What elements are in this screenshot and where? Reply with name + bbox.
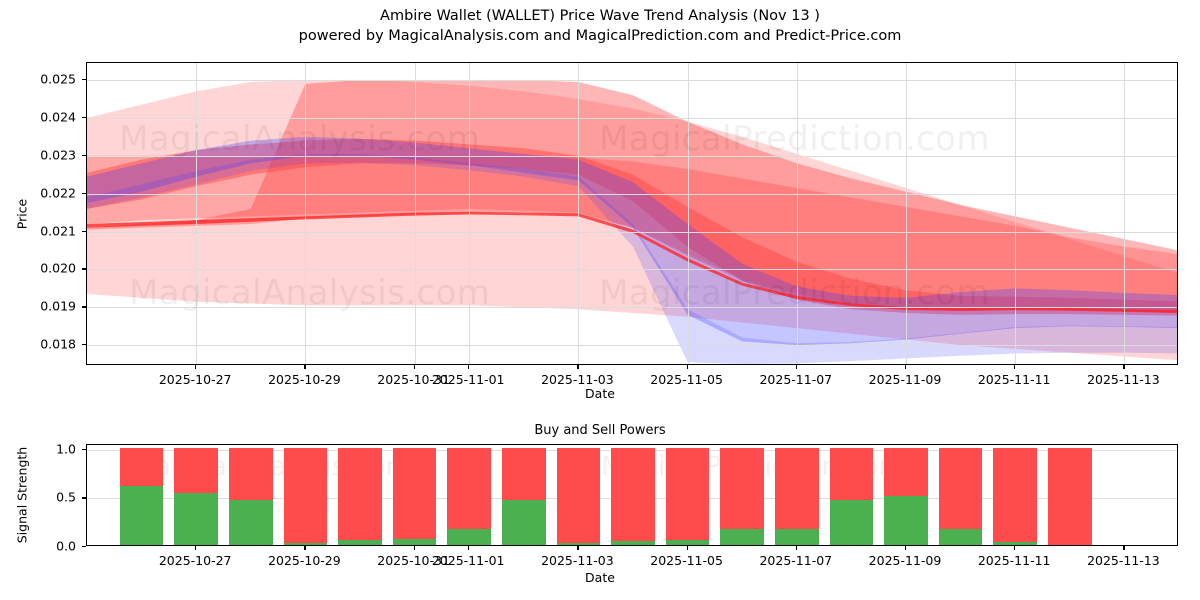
bar-stack[interactable] xyxy=(775,448,819,545)
buy-power-segment xyxy=(229,500,273,545)
gridline-vertical xyxy=(415,63,416,364)
x-tick-mark xyxy=(414,365,415,369)
gridline-horizontal xyxy=(87,345,1177,346)
price-plot-area: MagicalAnalysis.comMagicalPrediction.com… xyxy=(86,62,1178,365)
x-tick-label: 2025-10-29 xyxy=(268,553,341,568)
buy-power-segment xyxy=(393,539,437,545)
y-tick-label: 0.023 xyxy=(0,147,76,162)
sell-power-segment xyxy=(611,448,655,545)
x-tick-mark xyxy=(796,546,797,550)
x-tick-mark xyxy=(468,365,469,369)
x-tick-mark xyxy=(577,546,578,550)
gridline-horizontal xyxy=(87,307,1177,308)
sell-power-segment xyxy=(393,448,437,545)
x-tick-label: 2025-10-27 xyxy=(159,372,232,387)
bar-date-axis-label: Date xyxy=(0,570,1200,585)
y-tick-mark xyxy=(82,79,86,80)
bar-stack[interactable] xyxy=(284,448,328,545)
bar-stack[interactable] xyxy=(557,448,601,545)
y-tick-label: 0.018 xyxy=(0,337,76,352)
y-tick-label: 1.0 xyxy=(0,441,76,456)
y-tick-mark xyxy=(82,155,86,156)
x-tick-mark xyxy=(468,546,469,550)
gridline-vertical xyxy=(906,63,907,364)
bar-stack[interactable] xyxy=(939,448,983,545)
x-tick-mark xyxy=(905,546,906,550)
bar-stack[interactable] xyxy=(1048,448,1092,545)
bar-stack[interactable] xyxy=(229,448,273,545)
x-tick-mark xyxy=(1014,365,1015,369)
y-tick-mark xyxy=(82,117,86,118)
gridline-vertical xyxy=(305,63,306,364)
y-tick-label: 0.025 xyxy=(0,72,76,87)
y-tick-label: 0.020 xyxy=(0,261,76,276)
sell-power-segment xyxy=(338,448,382,545)
bar-stack[interactable] xyxy=(447,448,491,545)
bar-stack[interactable] xyxy=(338,448,382,545)
bar-stack[interactable] xyxy=(611,448,655,545)
buy-power-segment xyxy=(993,542,1037,545)
x-tick-mark xyxy=(304,365,305,369)
buy-power-segment xyxy=(120,486,164,545)
buy-sell-title: Buy and Sell Powers xyxy=(0,423,1200,438)
bar-stack[interactable] xyxy=(720,448,764,545)
gridline-horizontal xyxy=(87,156,1177,157)
y-tick-mark xyxy=(82,449,86,450)
buy-power-segment xyxy=(502,500,546,545)
y-tick-mark xyxy=(82,344,86,345)
x-tick-mark xyxy=(1123,365,1124,369)
gridline-horizontal xyxy=(87,269,1177,270)
buy-power-segment xyxy=(447,529,491,546)
buy-power-segment xyxy=(720,529,764,546)
x-tick-label: 2025-11-05 xyxy=(650,372,723,387)
sell-power-segment xyxy=(557,448,601,545)
y-tick-label: 0.5 xyxy=(0,490,76,505)
gridline-vertical xyxy=(469,63,470,364)
gridline-horizontal xyxy=(87,80,1177,81)
x-tick-label: 2025-10-27 xyxy=(159,553,232,568)
x-tick-mark xyxy=(195,546,196,550)
x-tick-mark xyxy=(687,365,688,369)
gridline-vertical xyxy=(797,63,798,364)
x-tick-label: 2025-11-09 xyxy=(869,372,942,387)
price-wave-panel: Price MagicalAnalysis.comMagicalPredicti… xyxy=(0,0,1200,400)
x-tick-mark xyxy=(414,546,415,550)
bar-stack[interactable] xyxy=(666,448,710,545)
gridline-vertical xyxy=(578,63,579,364)
date-axis-label: Date xyxy=(0,386,1200,401)
x-tick-label: 2025-11-01 xyxy=(432,553,505,568)
gridline-vertical xyxy=(688,63,689,364)
y-tick-mark xyxy=(82,193,86,194)
buy-sell-plot-area: MagicalAnalysis.comMagicalPrediction.com xyxy=(86,444,1178,546)
y-tick-label: 0.021 xyxy=(0,223,76,238)
y-tick-mark xyxy=(82,268,86,269)
bar-stack[interactable] xyxy=(993,448,1037,545)
x-tick-label: 2025-11-07 xyxy=(759,372,832,387)
x-tick-label: 2025-10-29 xyxy=(268,372,341,387)
sell-power-segment xyxy=(1048,448,1092,545)
sell-power-segment xyxy=(993,448,1037,545)
buy-sell-panel: Buy and Sell Powers Signal Strength Magi… xyxy=(0,410,1200,600)
gridline-horizontal xyxy=(87,232,1177,233)
x-tick-mark xyxy=(577,365,578,369)
x-tick-label: 2025-11-13 xyxy=(1087,372,1160,387)
buy-power-segment xyxy=(611,541,655,545)
x-tick-mark xyxy=(1014,546,1015,550)
y-tick-mark xyxy=(82,497,86,498)
x-tick-label: 2025-11-13 xyxy=(1087,553,1160,568)
x-tick-label: 2025-11-09 xyxy=(869,553,942,568)
buy-power-segment xyxy=(666,540,710,545)
x-tick-label: 2025-11-11 xyxy=(978,553,1051,568)
y-tick-mark xyxy=(82,231,86,232)
x-tick-mark xyxy=(195,365,196,369)
bar-stack[interactable] xyxy=(393,448,437,545)
y-tick-label: 0.022 xyxy=(0,185,76,200)
gridline-vertical xyxy=(1015,63,1016,364)
y-tick-mark xyxy=(82,546,86,547)
buy-power-segment xyxy=(338,540,382,545)
x-tick-label: 2025-11-03 xyxy=(541,372,614,387)
buy-power-segment xyxy=(884,496,928,545)
buy-power-segment xyxy=(830,500,874,545)
y-tick-label: 0.024 xyxy=(0,109,76,124)
x-tick-mark xyxy=(796,365,797,369)
x-tick-mark xyxy=(905,365,906,369)
bar-stack[interactable] xyxy=(174,448,218,545)
bar-stack[interactable] xyxy=(884,448,928,545)
gridline-horizontal xyxy=(87,118,1177,119)
gridline-vertical xyxy=(196,63,197,364)
buy-power-segment xyxy=(284,543,328,545)
sell-power-segment xyxy=(284,448,328,545)
x-tick-label: 2025-11-01 xyxy=(432,372,505,387)
buy-power-segment xyxy=(174,493,218,545)
x-tick-mark xyxy=(687,546,688,550)
buy-power-segment xyxy=(775,529,819,546)
x-tick-label: 2025-11-03 xyxy=(541,553,614,568)
bar-stack[interactable] xyxy=(120,448,164,545)
x-tick-label: 2025-11-05 xyxy=(650,553,723,568)
x-tick-mark xyxy=(1123,546,1124,550)
buy-power-segment xyxy=(939,529,983,546)
bar-stack[interactable] xyxy=(502,448,546,545)
y-tick-mark xyxy=(82,306,86,307)
sell-power-segment xyxy=(666,448,710,545)
buy-power-segment xyxy=(557,543,601,545)
y-tick-label: 0.019 xyxy=(0,299,76,314)
y-tick-label: 0.0 xyxy=(0,539,76,554)
x-tick-label: 2025-11-11 xyxy=(978,372,1051,387)
gridline-horizontal xyxy=(87,194,1177,195)
x-tick-label: 2025-11-07 xyxy=(759,553,832,568)
bar-stack[interactable] xyxy=(830,448,874,545)
gridline-vertical xyxy=(1124,63,1125,364)
x-tick-mark xyxy=(304,546,305,550)
